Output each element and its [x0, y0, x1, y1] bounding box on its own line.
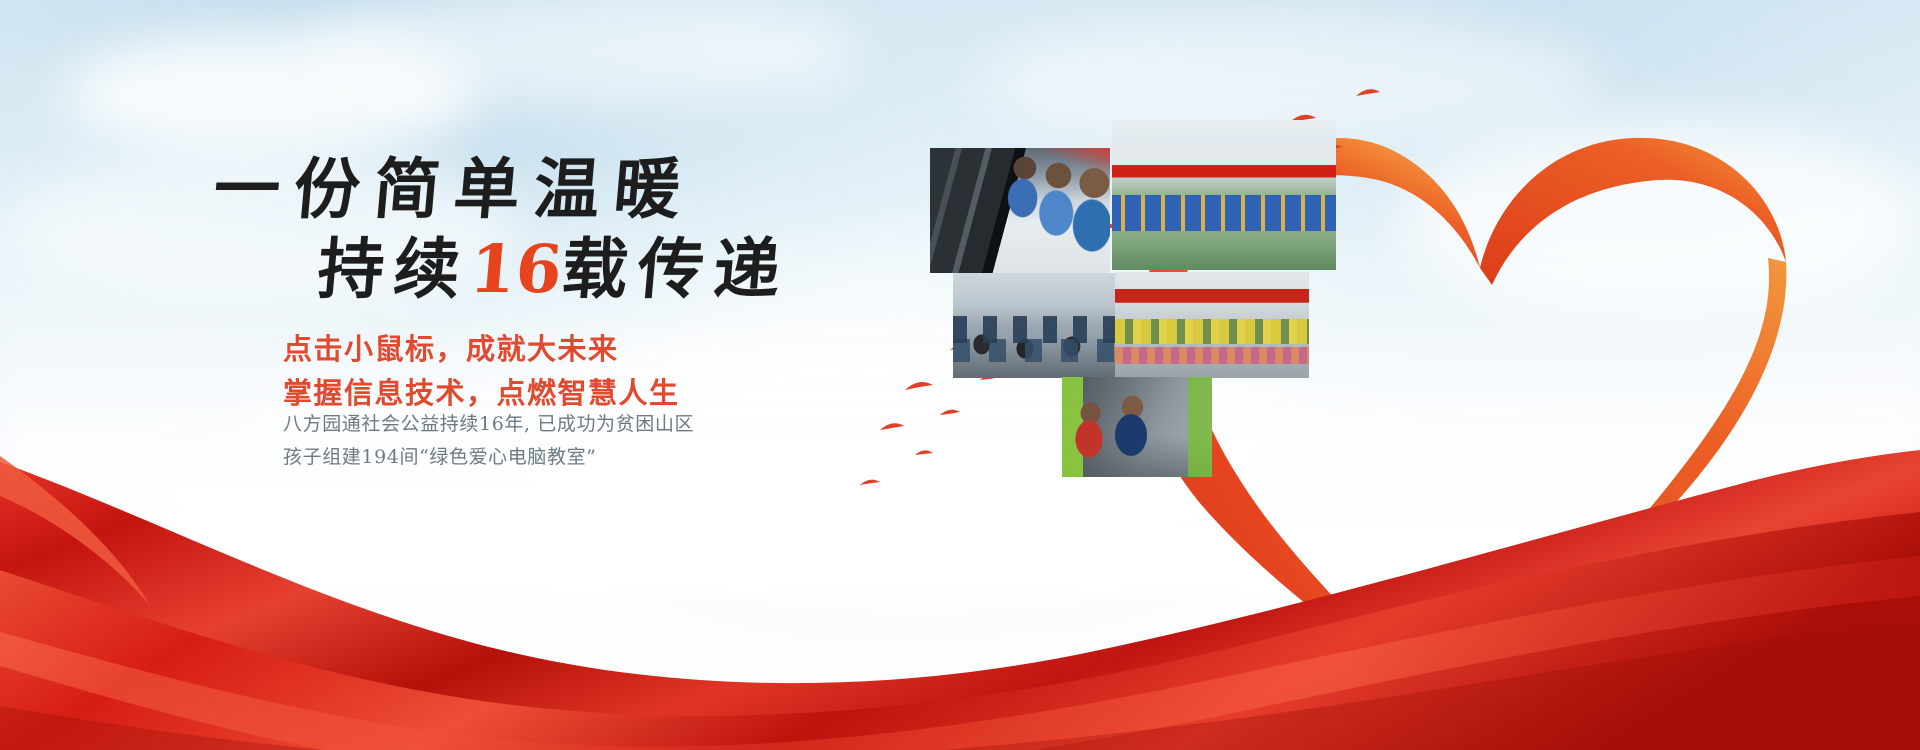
headline: 一份简单温暖 持续16载传递 [214, 156, 854, 302]
headline-line-1: 一份简单温暖 [211, 156, 857, 222]
photo-content [1112, 120, 1336, 270]
photo-computer-lab-students[interactable]: 小学生在电脑教室使用鼠标上机 [930, 148, 1110, 273]
photo-classroom-monitors[interactable]: 爱心电脑教室内整排电脑 [953, 273, 1133, 378]
photo-content [953, 273, 1133, 378]
headline-line-2: 持续16载传递 [315, 236, 857, 302]
slogan-line-1: 点击小鼠标，成就大未来 [283, 327, 843, 371]
photo-ceremony-group[interactable]: 爱心电脑教室捐赠仪式合影 [1115, 272, 1309, 378]
headline-line-2-suffix: 载传递 [558, 230, 793, 308]
red-silk-ribbon [0, 420, 1920, 750]
headline-years-number: 16 [467, 230, 566, 308]
photo-content [1115, 272, 1309, 378]
promo-banner: 一份简单温暖 持续16载传递 点击小鼠标，成就大未来 掌握信息技术，点燃智慧人生… [0, 0, 1920, 750]
photo-content [930, 148, 1110, 273]
photo-school-donation-group[interactable]: 广州高鑫电子捐赠爱心电脑教室合影 [1112, 120, 1336, 270]
slogan: 点击小鼠标，成就大未来 掌握信息技术，点燃智慧人生 [283, 327, 843, 415]
headline-line-2-prefix: 持续 [315, 230, 474, 308]
